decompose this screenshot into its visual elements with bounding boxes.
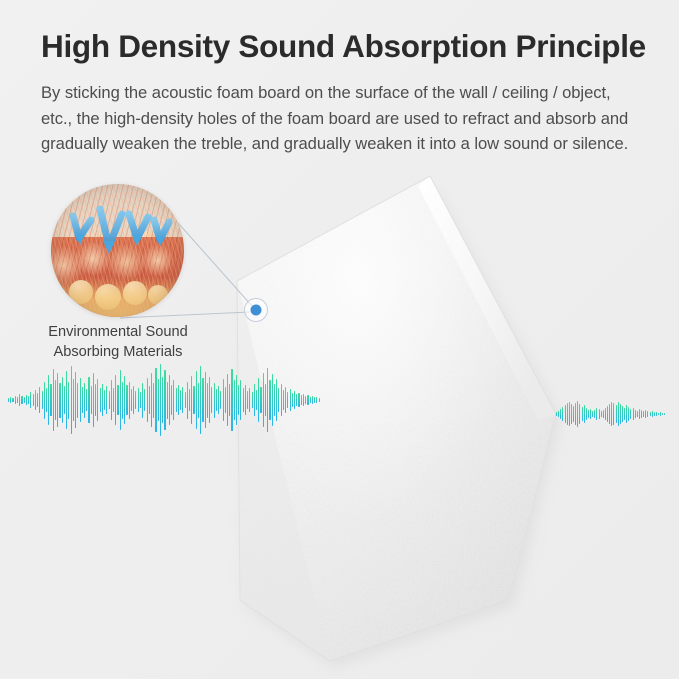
infographic-page: Environmental Sound Absorbing Materials … <box>0 0 679 679</box>
inset-caption-line-2: Absorbing Materials <box>18 342 218 362</box>
magnified-material-inset <box>51 184 184 317</box>
description-paragraph: By sticking the acoustic foam board on t… <box>41 80 641 157</box>
inset-vignette <box>51 184 184 317</box>
page-title: High Density Sound Absorption Principle <box>41 28 651 64</box>
inset-caption: Environmental Sound Absorbing Materials <box>18 322 218 362</box>
inset-caption-line-1: Environmental Sound <box>18 322 218 342</box>
marker-dot <box>251 305 262 316</box>
